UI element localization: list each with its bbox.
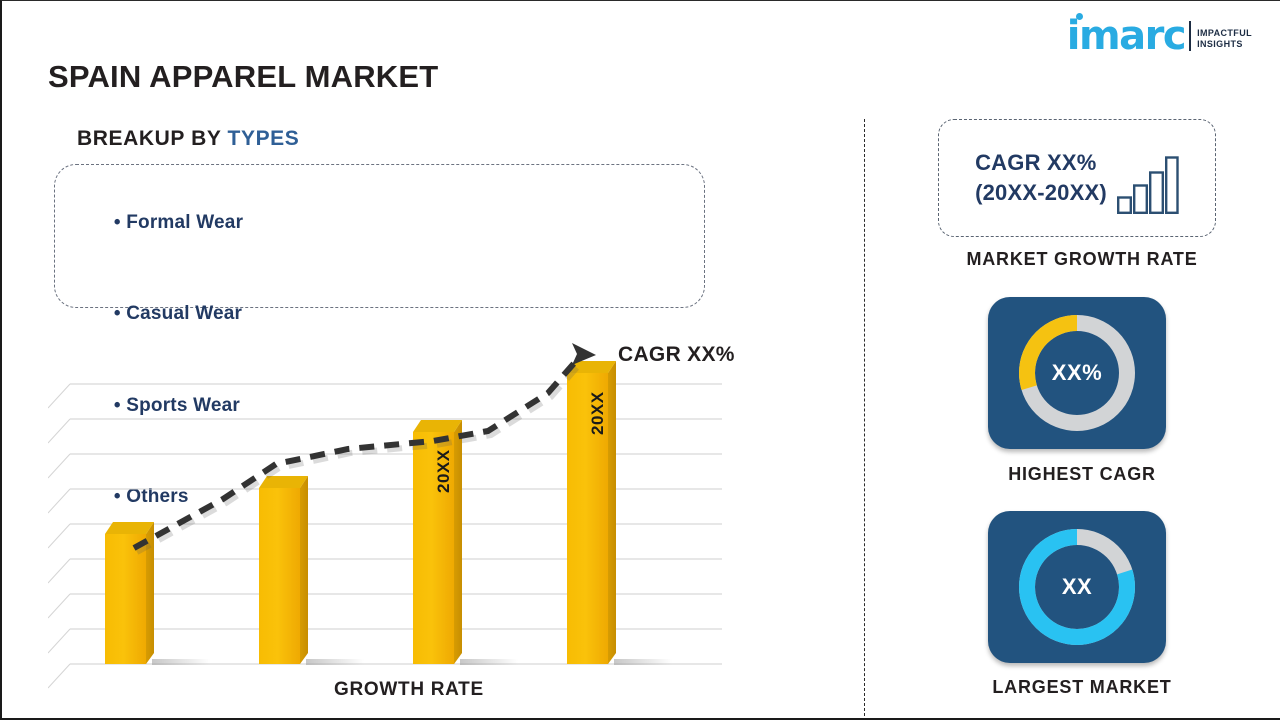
highest-cagr-value: XX% (1052, 360, 1102, 386)
infographic-page: imarc IMPACTFUL INSIGHTS SPAIN APPAREL M… (0, 0, 1280, 720)
page-title: SPAIN APPAREL MARKET (48, 59, 438, 95)
cagr-card-text: CAGR XX% (20XX-20XX) (975, 148, 1107, 208)
largest-market-value: XX (1062, 574, 1092, 600)
bullet-icon: • (114, 212, 126, 233)
logo-divider (1189, 21, 1191, 51)
logo-tagline-line1: IMPACTFUL (1197, 28, 1252, 39)
types-list-box: • Formal Wear • Casual Wear • Sports Wea… (54, 164, 705, 308)
breakup-heading-accent: TYPES (228, 127, 300, 150)
highest-cagr-caption: HIGHEST CAGR (902, 464, 1262, 485)
bar-label-4: 20XX (588, 391, 608, 435)
bar-2 (259, 476, 308, 664)
chart-x-axis-label: GROWTH RATE (334, 679, 484, 701)
bullet-icon: • (114, 303, 126, 324)
breakup-heading: BREAKUP BY TYPES (77, 127, 299, 151)
chart-depth-lines (48, 384, 70, 688)
bar-label-3: 20XX (434, 449, 454, 493)
list-item: • Formal Wear (81, 177, 704, 269)
logo-dot (1076, 13, 1083, 20)
imarc-logo: imarc IMPACTFUL INSIGHTS (1067, 13, 1252, 55)
chart-canvas (48, 331, 768, 720)
logo-tagline-line2: INSIGHTS (1197, 39, 1252, 50)
market-growth-rate-card: CAGR XX% (20XX-20XX) (938, 119, 1216, 237)
highest-cagr-tile: XX% (988, 297, 1166, 449)
largest-market-caption: LARGEST MARKET (902, 677, 1262, 698)
logo-wordmark-text: imarc (1067, 13, 1185, 59)
logo-tagline: IMPACTFUL INSIGHTS (1197, 28, 1252, 50)
largest-market-tile: XX (988, 511, 1166, 663)
section-divider (864, 119, 865, 716)
cagr-card-line1: CAGR XX% (975, 148, 1107, 178)
logo-wordmark: imarc (1067, 17, 1185, 55)
chart-gridlines (70, 384, 722, 664)
growth-rate-bar-chart: CAGR XX% 20XX 20XX GROWTH RATE (48, 331, 768, 720)
market-growth-rate-caption: MARKET GROWTH RATE (902, 249, 1262, 270)
list-item-label: Formal Wear (126, 212, 243, 233)
breakup-heading-label: BREAKUP BY (77, 127, 228, 150)
bar-chart-icon (1117, 156, 1179, 214)
cagr-card-line2: (20XX-20XX) (975, 178, 1107, 208)
list-item-label: Casual Wear (126, 303, 242, 324)
chart-cagr-annotation: CAGR XX% (618, 343, 735, 367)
trendline (134, 343, 596, 552)
